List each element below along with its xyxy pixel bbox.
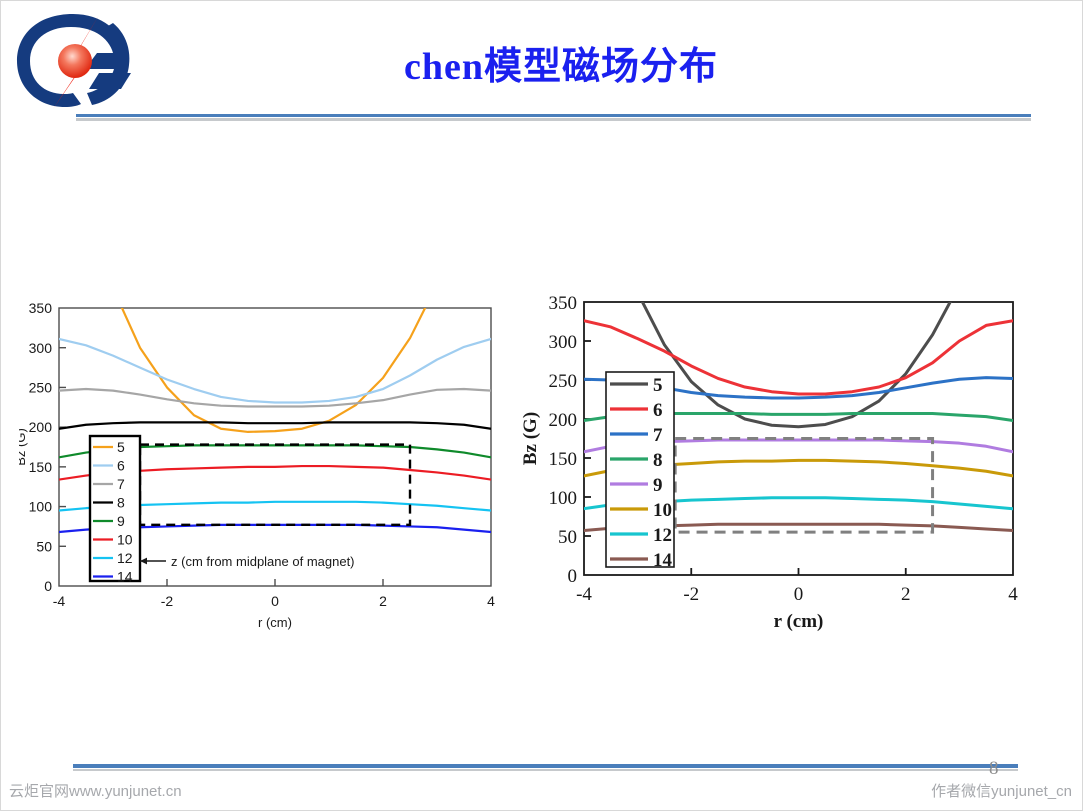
footer-divider-accent [73, 764, 1018, 768]
legend-label-12: 12 [653, 525, 672, 546]
chart-right-bz-vs-r: 050100150200250300350-4-2024r (cm)Bz (G)… [521, 286, 1031, 641]
header-divider [76, 114, 1031, 123]
x-axis-label: r (cm) [774, 611, 824, 632]
footer-divider [73, 764, 1018, 773]
x-tick-label: -4 [53, 593, 66, 609]
x-tick-label: 0 [271, 593, 279, 609]
page-title: chen模型磁场分布 [181, 35, 941, 90]
y-tick-label: 150 [549, 449, 578, 470]
y-tick-label: 100 [29, 499, 53, 515]
legend-label-7: 7 [653, 425, 663, 446]
x-tick-label: -2 [161, 593, 174, 609]
y-tick-label: 350 [29, 300, 53, 316]
footer-divider-shadow [73, 769, 1018, 771]
legend-label-5: 5 [117, 439, 125, 455]
y-tick-label: 300 [29, 340, 53, 356]
chart-legend: 56789101214 [606, 372, 674, 571]
series-line-7 [59, 389, 491, 406]
legend-label-8: 8 [117, 495, 125, 511]
y-tick-label: 50 [36, 538, 52, 554]
legend-label-6: 6 [653, 400, 663, 421]
legend-label-6: 6 [117, 458, 125, 474]
y-axis-label: Bz (G) [521, 412, 541, 465]
y-tick-label: 300 [549, 332, 578, 353]
legend-label-5: 5 [653, 375, 663, 396]
y-tick-label: 0 [44, 578, 52, 594]
highlight-region-box [675, 439, 932, 533]
x-tick-label: -2 [683, 584, 699, 605]
x-tick-label: -4 [576, 584, 592, 605]
y-tick-label: 150 [29, 459, 53, 475]
company-logo [13, 9, 135, 113]
x-axis-label: r (cm) [258, 615, 292, 630]
y-tick-label: 200 [29, 419, 53, 435]
chart-annotation: z (cm from midplane of magnet) [140, 554, 355, 569]
highlight-region-box [140, 445, 410, 525]
footer-right-text: 作者微信yunjunet_cn [931, 780, 1072, 801]
legend-label-9: 9 [653, 475, 663, 496]
y-tick-label: 50 [558, 527, 577, 548]
series-line-8 [59, 422, 491, 428]
y-axis-label: Bz (G) [19, 428, 28, 466]
legend-label-14: 14 [117, 569, 133, 585]
chart-left-bz-vs-r: 050100150200250300350-4-2024r (cm)Bz (G)… [19, 291, 509, 636]
slide-header: chen模型磁场分布 [1, 1, 1083, 126]
legend-label-8: 8 [653, 450, 663, 471]
header-divider-accent [76, 114, 1031, 117]
legend-label-10: 10 [117, 532, 133, 548]
x-tick-label: 0 [794, 584, 804, 605]
legend-label-9: 9 [117, 513, 125, 529]
footer-left-text: 云炬官网www.yunjunet.cn [9, 780, 182, 801]
page-number: 8 [989, 758, 999, 780]
y-tick-label: 250 [549, 371, 578, 392]
legend-label-7: 7 [117, 476, 125, 492]
header-divider-shadow [76, 118, 1031, 121]
x-tick-label: 2 [901, 584, 911, 605]
y-tick-label: 250 [29, 379, 53, 395]
annotation-label: z (cm from midplane of magnet) [171, 554, 355, 569]
y-tick-label: 200 [549, 410, 578, 431]
x-tick-label: 4 [1008, 584, 1018, 605]
y-tick-label: 100 [549, 488, 578, 509]
y-tick-label: 350 [549, 293, 578, 314]
legend-label-12: 12 [117, 550, 133, 566]
legend-label-14: 14 [653, 550, 673, 571]
x-tick-label: 2 [379, 593, 387, 609]
x-tick-label: 4 [487, 593, 495, 609]
legend-label-10: 10 [653, 500, 672, 521]
chart-legend: 56789101214 [90, 436, 140, 585]
